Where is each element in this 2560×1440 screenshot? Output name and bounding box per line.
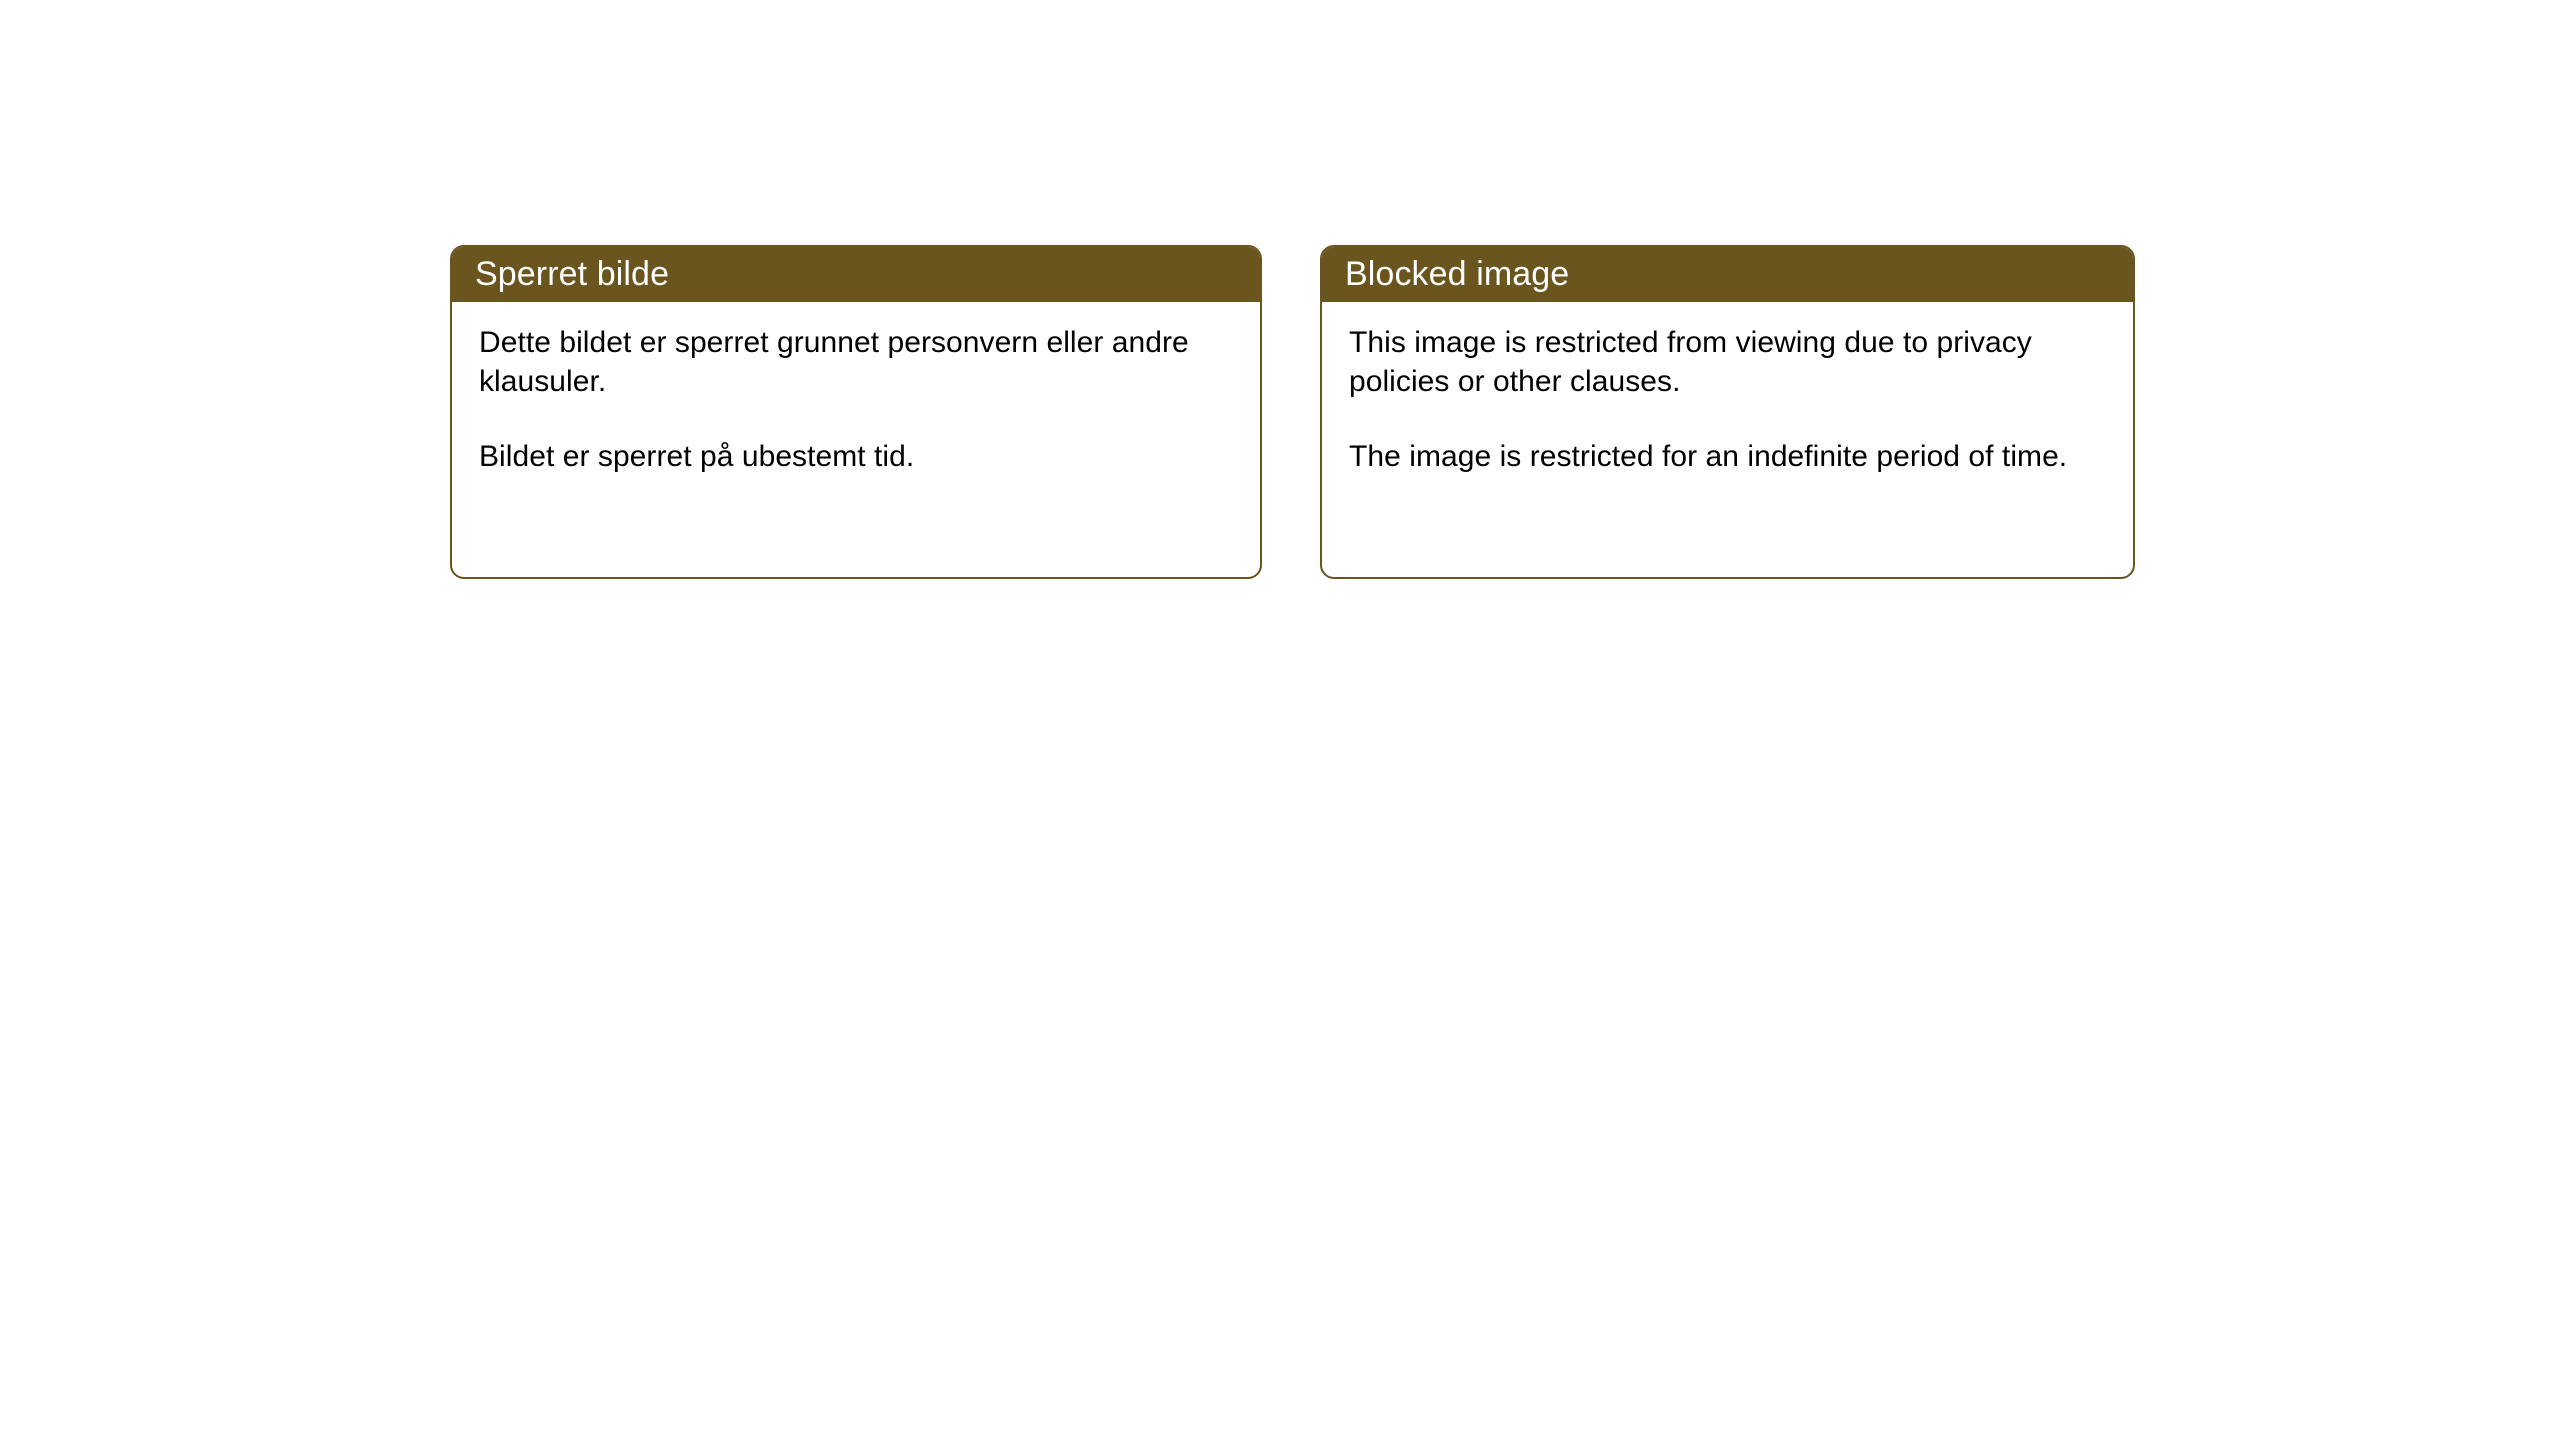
blocked-image-card-english: Blocked image This image is restricted f… <box>1320 245 2135 579</box>
card-title-norwegian: Sperret bilde <box>475 257 669 291</box>
card-header-norwegian: Sperret bilde <box>450 245 1262 302</box>
blocked-image-card-norwegian: Sperret bilde Dette bildet er sperret gr… <box>450 245 1262 579</box>
card-paragraph-duration-norwegian: Bildet er sperret på ubestemt tid. <box>479 438 1234 477</box>
card-paragraph-reason-norwegian: Dette bildet er sperret grunnet personve… <box>479 324 1234 401</box>
card-title-english: Blocked image <box>1345 257 1569 291</box>
card-body-english: This image is restricted from viewing du… <box>1322 302 2133 477</box>
card-paragraph-reason-english: This image is restricted from viewing du… <box>1349 324 2107 401</box>
card-header-english: Blocked image <box>1320 245 2135 302</box>
card-body-norwegian: Dette bildet er sperret grunnet personve… <box>452 302 1260 477</box>
blocked-image-notice-area: Sperret bilde Dette bildet er sperret gr… <box>0 0 2560 1440</box>
card-paragraph-duration-english: The image is restricted for an indefinit… <box>1349 438 2107 477</box>
